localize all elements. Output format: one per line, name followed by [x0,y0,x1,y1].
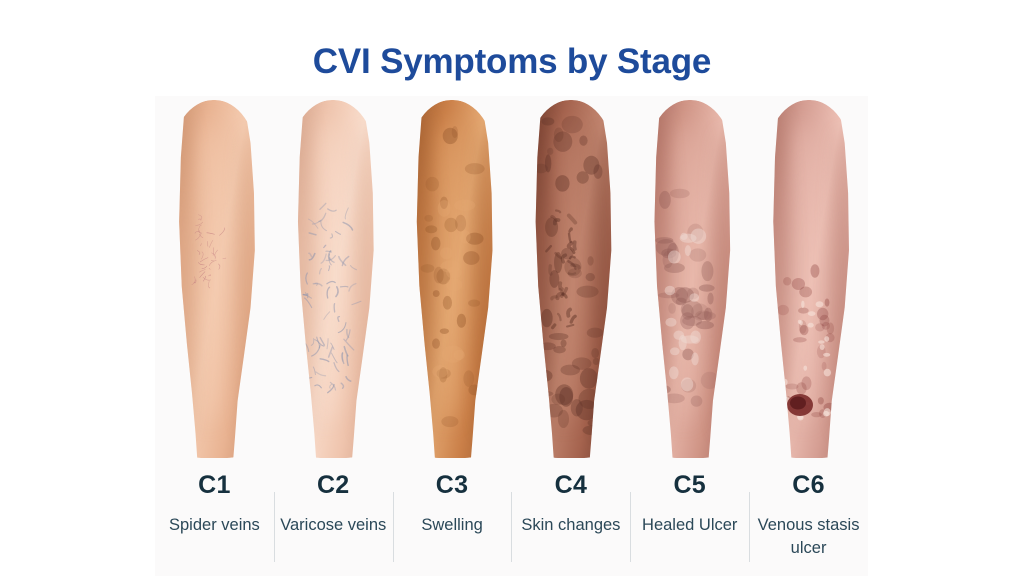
stage-label-c6: C6 Venous stasis ulcer [749,460,868,559]
stage-description-c5: Healed Ulcer [630,514,749,536]
cvi-stages-infographic: CVI Symptoms by Stage C1 Spider veins [0,0,1024,576]
stage-code-c6: C6 [749,472,868,498]
leg-image-c6 [749,100,868,460]
leg-shadow-right [832,129,851,437]
stage-column-c3[interactable]: C3 Swelling [393,100,512,576]
stage-code-c2: C2 [274,472,393,498]
leg-shadow-left [173,114,195,443]
stage-label-c5: C5 Healed Ulcer [630,460,749,537]
leg-shadow-left [767,114,789,443]
stage-column-c5[interactable]: C5 Healed Ulcer [630,100,749,576]
leg-shadow-right [594,129,613,437]
leg-shadow-right [356,129,375,437]
leg-image-c5 [630,100,749,460]
stage-column-c4[interactable]: C4 Skin changes [511,100,630,576]
stage-column-c2[interactable]: C2 Varicose veins [274,100,393,576]
stage-description-c4: Skin changes [511,514,630,536]
leg-photo-c5-healed-ulcer [647,100,733,458]
leg-shadow-left [530,114,552,443]
stage-description-c2: Varicose veins [274,514,393,536]
stage-column-c6[interactable]: C6 Venous stasis ulcer [749,100,868,576]
leg-image-c2 [274,100,393,460]
stage-code-c4: C4 [511,472,630,498]
leg-photo-c2-varicose-veins [290,100,376,458]
stage-description-c6: Venous stasis ulcer [749,514,868,559]
stage-description-c3: Swelling [393,514,512,536]
leg-shadow-left [292,114,314,443]
leg-shadow-right [713,129,732,437]
stage-label-c2: C2 Varicose veins [274,460,393,537]
leg-shadow-left [648,114,670,443]
stage-code-c3: C3 [393,472,512,498]
stage-code-c5: C5 [630,472,749,498]
leg-photo-c3-swelling [409,100,495,458]
stage-label-c3: C3 Swelling [393,460,512,537]
stage-description-c1: Spider veins [155,514,274,536]
leg-shadow-right [238,129,257,437]
stage-label-c1: C1 Spider veins [155,460,274,537]
leg-image-c1 [155,100,274,460]
stage-code-c1: C1 [155,472,274,498]
leg-image-c3 [393,100,512,460]
stage-label-c4: C4 Skin changes [511,460,630,537]
leg-photo-c4-skin-changes [528,100,614,458]
leg-shadow-left [411,114,433,443]
leg-shadow-right [475,129,494,437]
stage-columns: C1 Spider veins C2 Varicose veins [155,100,868,576]
stage-column-c1[interactable]: C1 Spider veins [155,100,274,576]
page-title: CVI Symptoms by Stage [0,42,1024,82]
leg-photo-c1-spider-veins [171,100,257,458]
leg-photo-c6-venous-stasis-ulcer [766,100,852,458]
leg-image-c4 [511,100,630,460]
